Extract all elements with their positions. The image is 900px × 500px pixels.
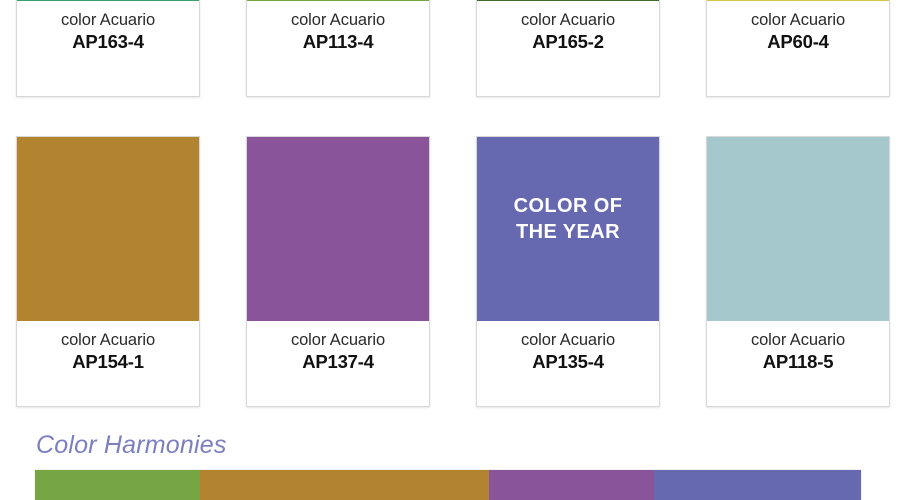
swatch-brand: color Acuario [17,10,199,30]
swatch-code: AP118-5 [707,350,889,374]
color-chip [17,0,199,1]
harmony-segment-periwinkle[interactable] [654,470,861,500]
swatch-brand: color Acuario [17,330,199,350]
swatch-card-ap163-4[interactable]: color Acuario AP163-4 [16,0,200,97]
swatch-code: AP137-4 [247,350,429,374]
swatch-code: AP165-2 [477,30,659,54]
swatch-code: AP60-4 [707,30,889,54]
swatch-label: color Acuario AP113-4 [247,1,429,96]
swatch-card-ap118-5[interactable]: color Acuario AP118-5 [706,136,890,407]
swatch-label: color Acuario AP165-2 [477,1,659,96]
color-palette-page: color Acuario AP163-4 color Acuario AP11… [0,0,900,500]
swatch-label: color Acuario AP163-4 [17,1,199,96]
swatch-brand: color Acuario [477,10,659,30]
swatch-brand: color Acuario [707,10,889,30]
color-chip [707,0,889,1]
swatch-card-ap113-4[interactable]: color Acuario AP113-4 [246,0,430,97]
color-chip [17,137,199,321]
color-chip [247,0,429,1]
swatch-code: AP154-1 [17,350,199,374]
swatch-code: AP113-4 [247,30,429,54]
swatch-brand: color Acuario [707,330,889,350]
swatch-label: color Acuario AP154-1 [17,321,199,406]
color-chip: COLOR OF THE YEAR [477,137,659,321]
swatch-card-ap60-4[interactable]: color Acuario AP60-4 [706,0,890,97]
swatch-card-ap154-1[interactable]: color Acuario AP154-1 [16,136,200,407]
swatch-label: color Acuario AP135-4 [477,321,659,406]
swatch-card-ap135-4[interactable]: COLOR OF THE YEAR color Acuario AP135-4 [476,136,660,407]
swatch-brand: color Acuario [247,330,429,350]
color-chip [707,137,889,321]
color-harmony-bar[interactable] [35,470,861,500]
swatch-label: color Acuario AP137-4 [247,321,429,406]
harmony-segment-ochre[interactable] [200,470,489,500]
swatch-card-ap137-4[interactable]: color Acuario AP137-4 [246,136,430,407]
swatch-brand: color Acuario [477,330,659,350]
color-of-the-year-badge: COLOR OF THE YEAR [477,193,659,245]
color-chip [247,137,429,321]
swatch-code: AP163-4 [17,30,199,54]
swatch-label: color Acuario AP60-4 [707,1,889,96]
harmony-segment-orchid[interactable] [489,470,654,500]
harmony-segment-leaf-green[interactable] [35,470,200,500]
swatch-card-ap165-2[interactable]: color Acuario AP165-2 [476,0,660,97]
swatch-label: color Acuario AP118-5 [707,321,889,406]
color-harmonies-title: Color Harmonies [36,430,227,460]
swatch-code: AP135-4 [477,350,659,374]
swatch-brand: color Acuario [247,10,429,30]
color-chip [477,0,659,1]
